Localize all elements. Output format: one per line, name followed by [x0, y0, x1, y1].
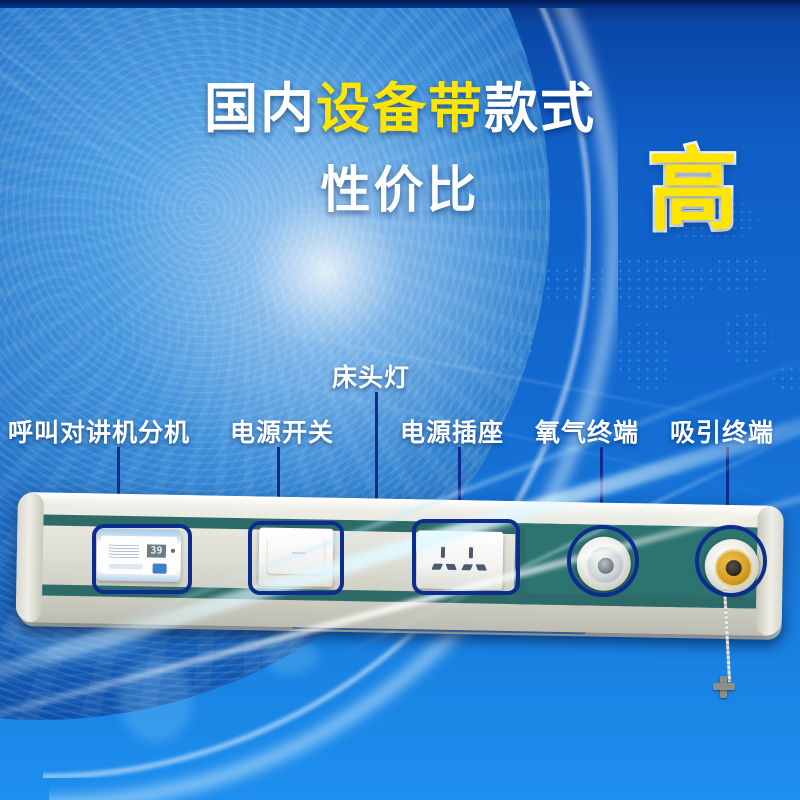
- panel-end-cap-left: [16, 492, 44, 622]
- headline: 国内设备带款式: [0, 82, 800, 136]
- pull-chain-connector[interactable]: [713, 676, 735, 698]
- callout-label-oxygen-outlet: 氧气终端: [535, 413, 639, 449]
- callout-label-suction-outlet: 吸引终端: [670, 413, 774, 449]
- top-band: [0, 0, 800, 8]
- poster-canvas: 国内设备带款式 性价比 高 呼叫对讲机分机 电源开关 床头灯 电源插座 氧气终端…: [0, 0, 800, 800]
- callout-label-power-switch: 电源开关: [230, 413, 334, 449]
- panel-highlight: [18, 492, 784, 518]
- callout-label-bedside-lamp: 床头灯: [332, 358, 410, 394]
- subline-highlight: 高: [648, 146, 738, 236]
- highlight-box-power-socket: [412, 519, 520, 595]
- headline-part-3: 款式: [484, 82, 596, 136]
- callout-label-power-socket: 电源插座: [400, 413, 504, 449]
- subline-text: 性价比: [321, 162, 480, 218]
- highlight-circle-suction: [695, 525, 767, 597]
- highlight-box-intercom: [92, 524, 192, 594]
- callout-label-intercom: 呼叫对讲机分机: [8, 413, 190, 449]
- highlight-circle-oxygen: [567, 525, 639, 597]
- headline-part-1: 国内: [204, 82, 316, 136]
- headline-part-2: 设备带: [316, 82, 484, 136]
- connector-horizontal: [713, 683, 735, 690]
- highlight-box-power-switch: [248, 521, 344, 595]
